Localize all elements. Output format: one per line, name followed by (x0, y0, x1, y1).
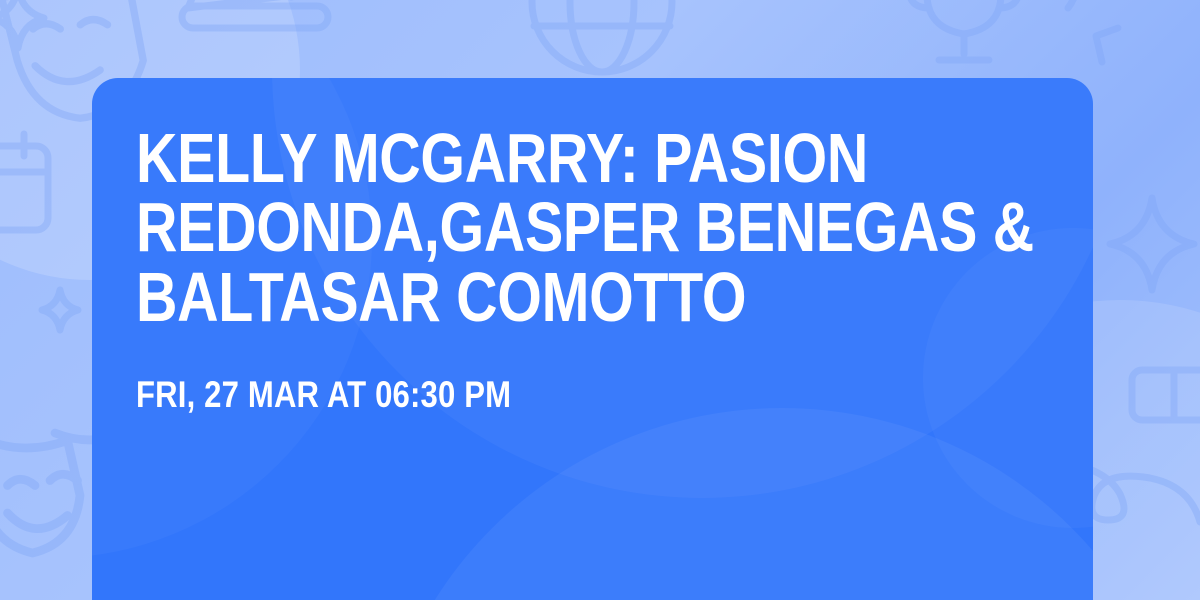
globe-icon (532, 0, 672, 72)
sparkle-icon (0, 0, 44, 48)
card-decorative-circle (372, 408, 1093, 600)
streamer-icon (1014, 0, 1097, 8)
ticket-icon (182, 0, 328, 28)
event-banner: Kelly McGarry: Pasion Redonda,Gasper Ben… (0, 0, 1200, 600)
ticket-icon (1132, 370, 1200, 420)
event-card-content: Kelly McGarry: Pasion Redonda,Gasper Ben… (136, 124, 1049, 413)
event-title: Kelly McGarry: Pasion Redonda,Gasper Ben… (136, 124, 1049, 332)
trophy-icon (909, 0, 1019, 60)
sparkle-icon (1110, 198, 1194, 290)
calendar-icon (0, 134, 48, 230)
event-card[interactable]: Kelly McGarry: Pasion Redonda,Gasper Ben… (92, 78, 1093, 600)
music-note-icon (1096, 28, 1118, 62)
event-date-time: Fri, 27 Mar at 06:30 PM (136, 376, 1049, 413)
sparkle-icon (42, 290, 78, 330)
